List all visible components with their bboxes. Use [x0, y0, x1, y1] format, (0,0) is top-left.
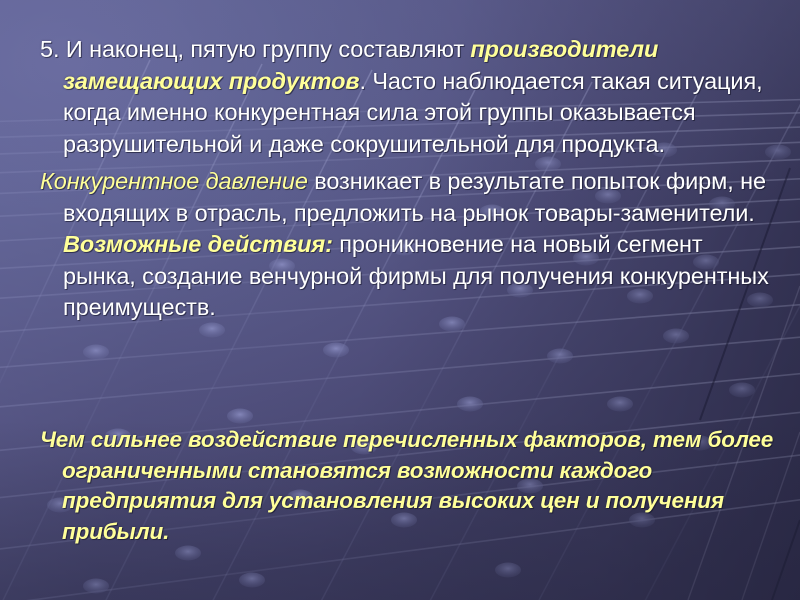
emphasis-possible-actions: Возможные действия: — [63, 231, 333, 257]
body-text-block: 5. И наконец, пятую группу составляют пр… — [40, 34, 770, 324]
paragraph-item-5: 5. И наконец, пятую группу составляют пр… — [40, 34, 770, 160]
presentation-slide: 5. И наконец, пятую группу составляют пр… — [0, 0, 800, 600]
emphasis-competitive-pressure: Конкурентное давление — [40, 168, 308, 194]
slide-content: 5. И наконец, пятую группу составляют пр… — [0, 0, 800, 600]
list-number: 5. — [40, 36, 59, 62]
paragraph-competitive-pressure: Конкурентное давление возникает в резуль… — [40, 166, 770, 324]
paragraph-5-run-1: И наконец, пятую группу составляют — [66, 36, 471, 62]
closing-statement: Чем сильнее воздействие перечисленных фа… — [40, 425, 800, 547]
